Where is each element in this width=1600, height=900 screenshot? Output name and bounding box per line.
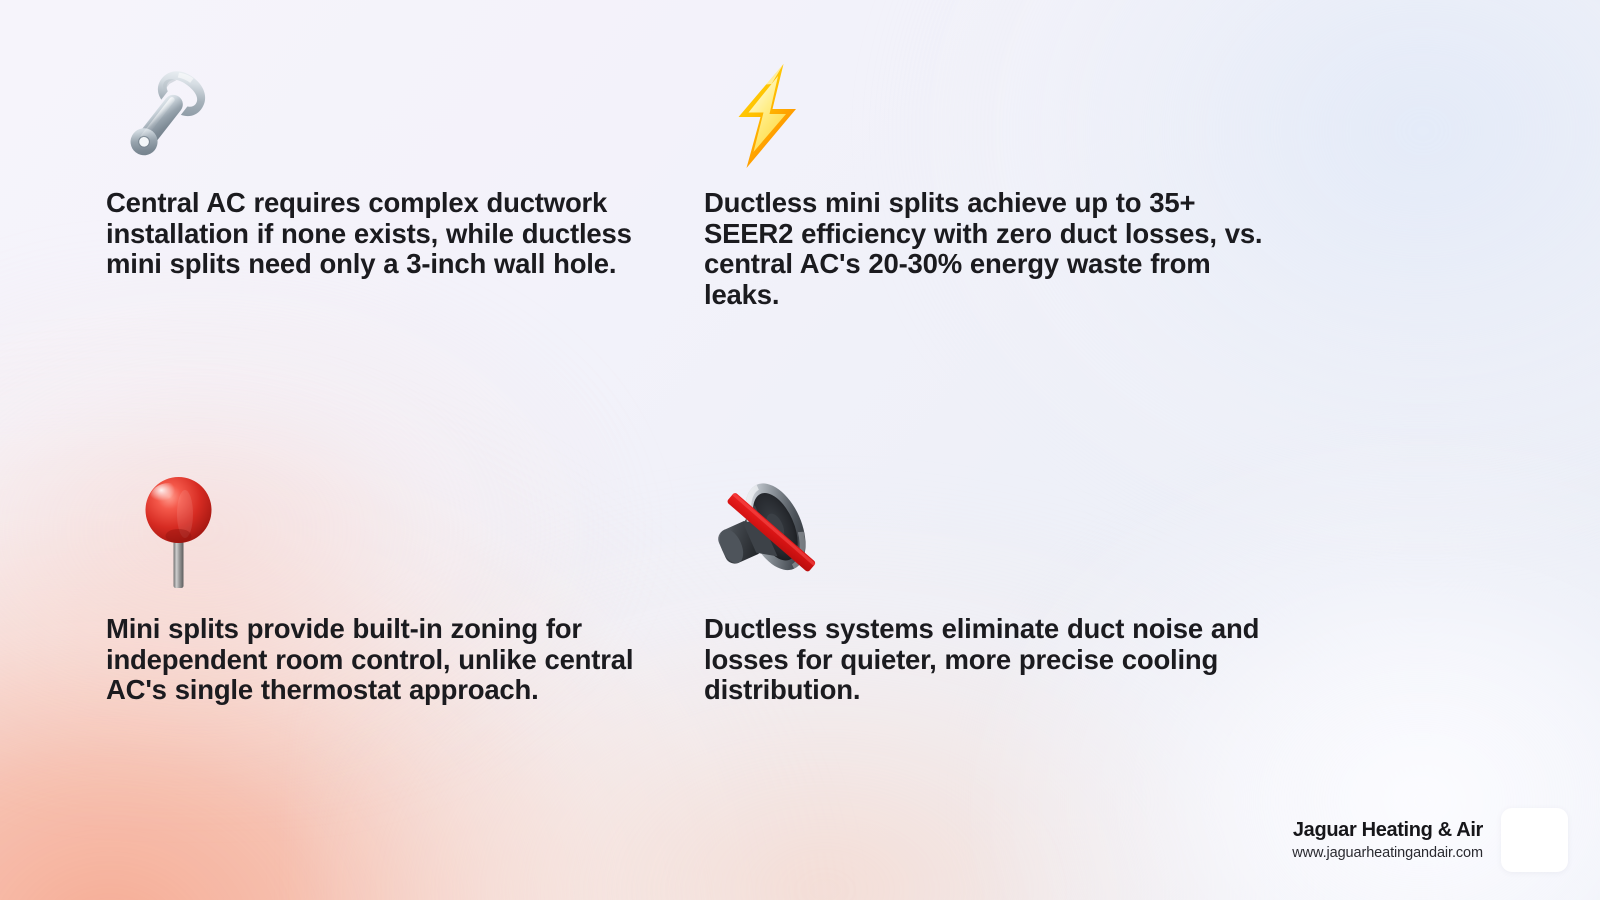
brand-logo-placeholder [1501, 808, 1568, 872]
card-2: Ductless mini splits achieve up to 35+ S… [704, 38, 1596, 458]
brand-url: www.jaguarheatingandair.com [1292, 845, 1483, 861]
infographic-card-grid: Central AC requires complex ductwork ins… [0, 0, 1600, 900]
card-1: Central AC requires complex ductwork ins… [0, 38, 798, 458]
card-3: Mini splits provide built-in zoning for … [0, 458, 798, 878]
card-1-icon-slot [106, 38, 676, 188]
card-4-text: Ductless systems eliminate duct noise an… [704, 614, 1264, 706]
card-3-icon-slot [106, 458, 676, 608]
brand-text-block: Jaguar Heating & Air www.jaguarheatingan… [1292, 819, 1483, 861]
card-3-text: Mini splits provide built-in zoning for … [106, 614, 666, 706]
branding-footer: Jaguar Heating & Air www.jaguarheatingan… [1292, 808, 1568, 872]
round-pushpin-icon [128, 470, 232, 592]
brand-name: Jaguar Heating & Air [1293, 819, 1483, 842]
wrench-icon [106, 56, 224, 174]
card-1-text: Central AC requires complex ductwork ins… [106, 188, 666, 280]
card-2-text: Ductless mini splits achieve up to 35+ S… [704, 188, 1270, 310]
card-4-icon-slot [704, 458, 1274, 608]
lightning-bolt-icon [708, 56, 826, 174]
muted-speaker-icon [704, 468, 832, 592]
card-2-icon-slot [704, 38, 1274, 188]
